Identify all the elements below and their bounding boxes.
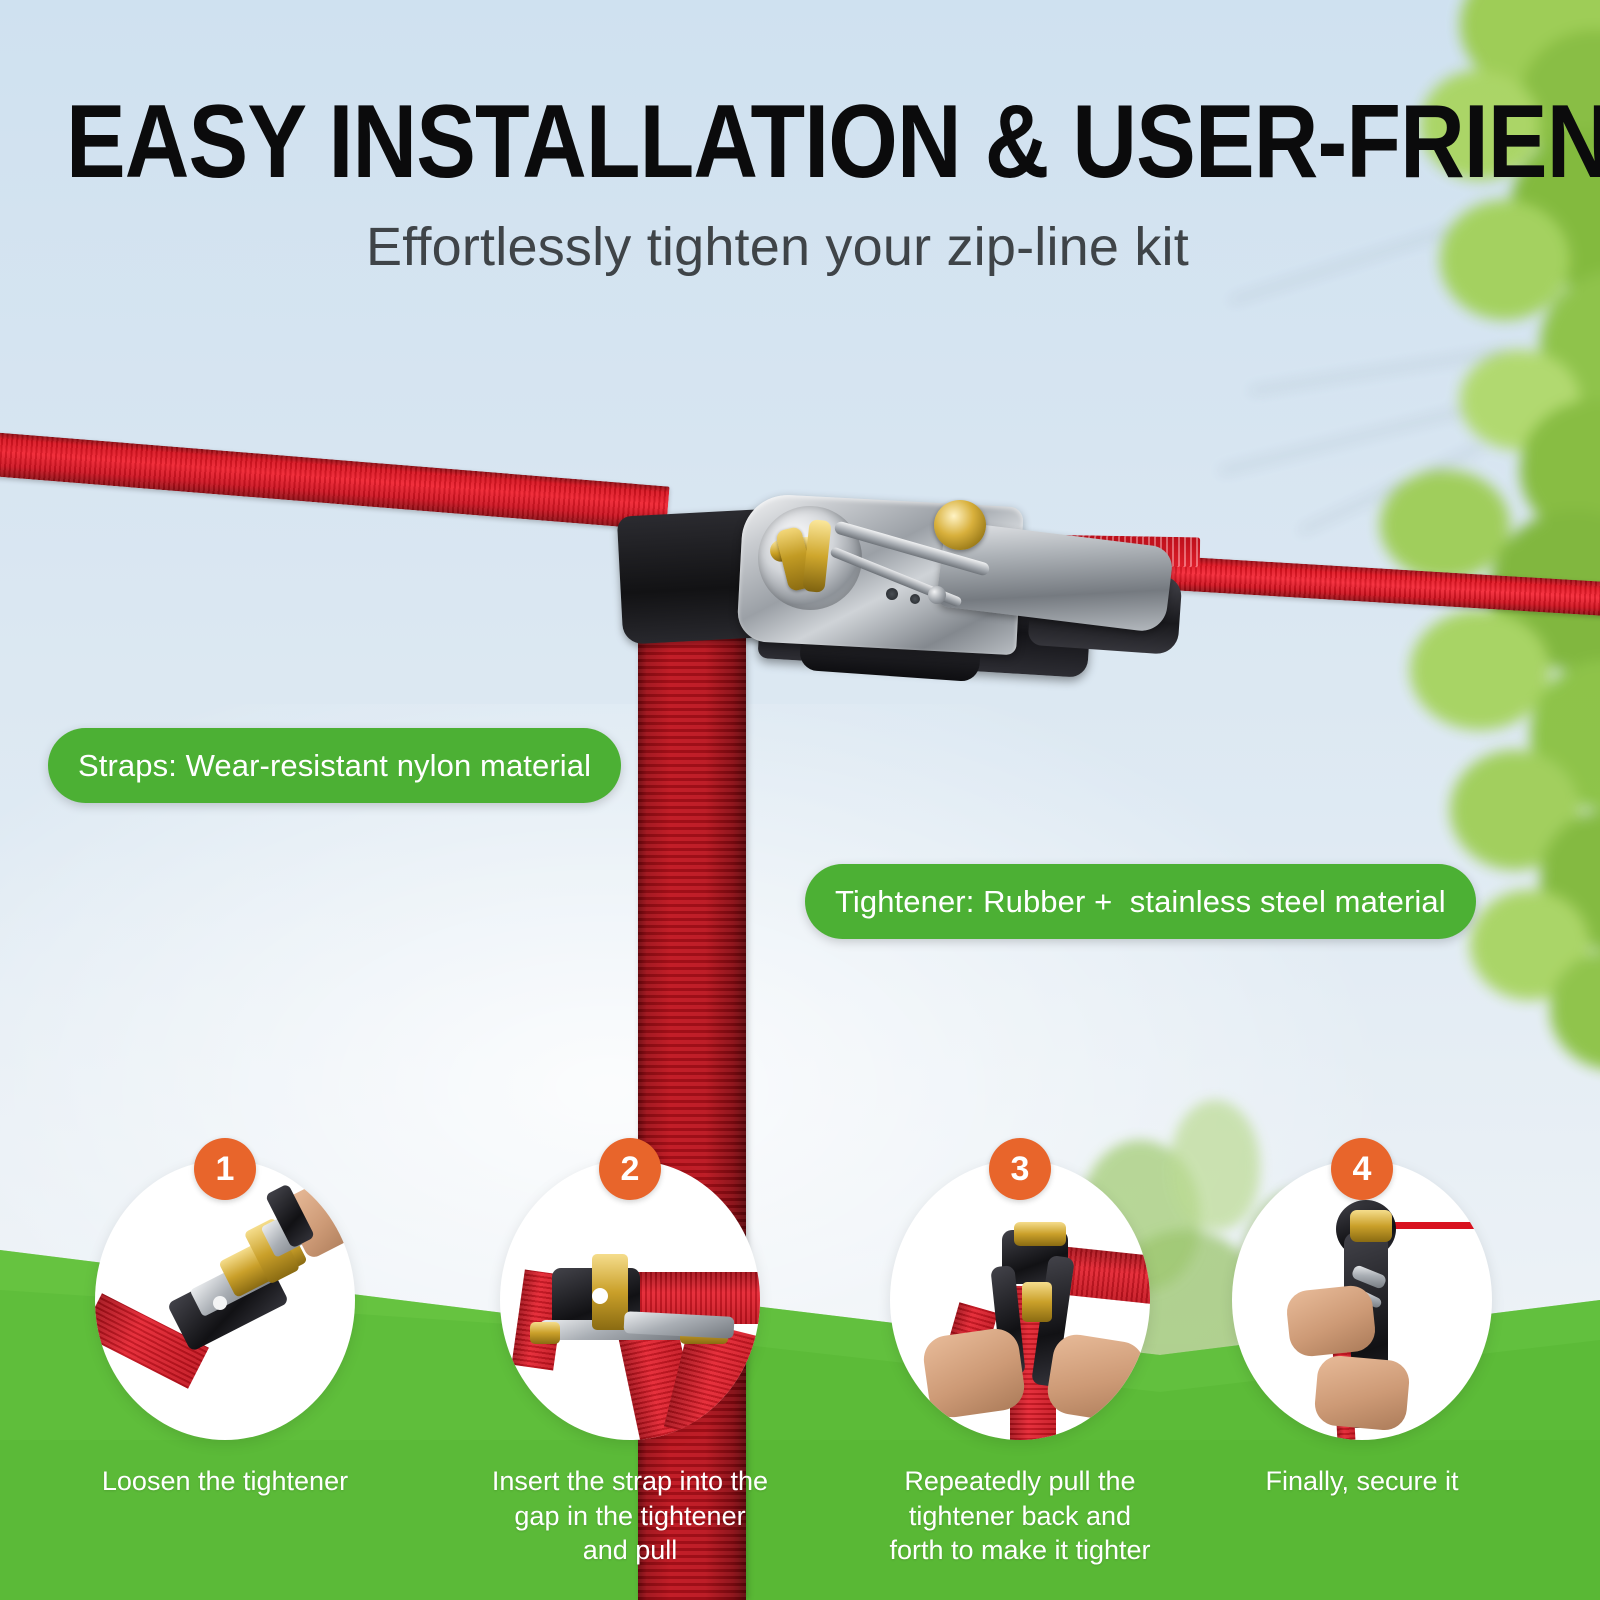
step-2-badge: 2	[599, 1138, 661, 1200]
step-2-illustration	[500, 1160, 760, 1440]
step-4-caption: Finally, secure it	[1222, 1464, 1502, 1499]
feature-label-straps: Straps: Wear-resistant nylon material	[48, 728, 621, 803]
body-rivet	[928, 586, 946, 604]
step-2: Insert the strap into the gap in the tig…	[490, 1160, 770, 1568]
body-hole-2	[910, 594, 920, 604]
step-2-caption: Insert the strap into the gap in the tig…	[490, 1464, 770, 1568]
feature-label-tightener: Tightener: Rubber + stainless steel mate…	[805, 864, 1476, 939]
ratchet-tightener-hardware	[610, 476, 1170, 686]
step-1-badge: 1	[194, 1138, 256, 1200]
step-4-photo	[1232, 1160, 1492, 1440]
step-4-badge: 4	[1331, 1138, 1393, 1200]
step-2-photo	[500, 1160, 760, 1440]
step-1-illustration	[95, 1160, 355, 1440]
step-3-caption: Repeatedly pull the tightener back and f…	[880, 1464, 1160, 1568]
step-3-photo	[890, 1160, 1150, 1440]
step-3: Repeatedly pull the tightener back and f…	[880, 1160, 1160, 1568]
marketing-image-stage: EASY INSTALLATION & USER-FRIENDLY Effort…	[0, 0, 1600, 1600]
page-subtitle: Effortlessly tighten your zip-line kit	[366, 216, 1189, 278]
instruction-steps: Loosen the tightener 1	[0, 1140, 1600, 1600]
step-3-illustration	[890, 1160, 1150, 1440]
step-4-illustration	[1232, 1160, 1492, 1440]
brass-bolt	[934, 500, 986, 550]
step-1: Loosen the tightener 1	[85, 1160, 365, 1499]
step-3-badge: 3	[989, 1138, 1051, 1200]
page-title: EASY INSTALLATION & USER-FRIENDLY	[66, 88, 1600, 197]
step-1-photo	[95, 1160, 355, 1440]
body-hole-1	[886, 588, 898, 600]
step-1-caption: Loosen the tightener	[85, 1464, 365, 1499]
step-4: Finally, secure it 4	[1222, 1160, 1502, 1499]
